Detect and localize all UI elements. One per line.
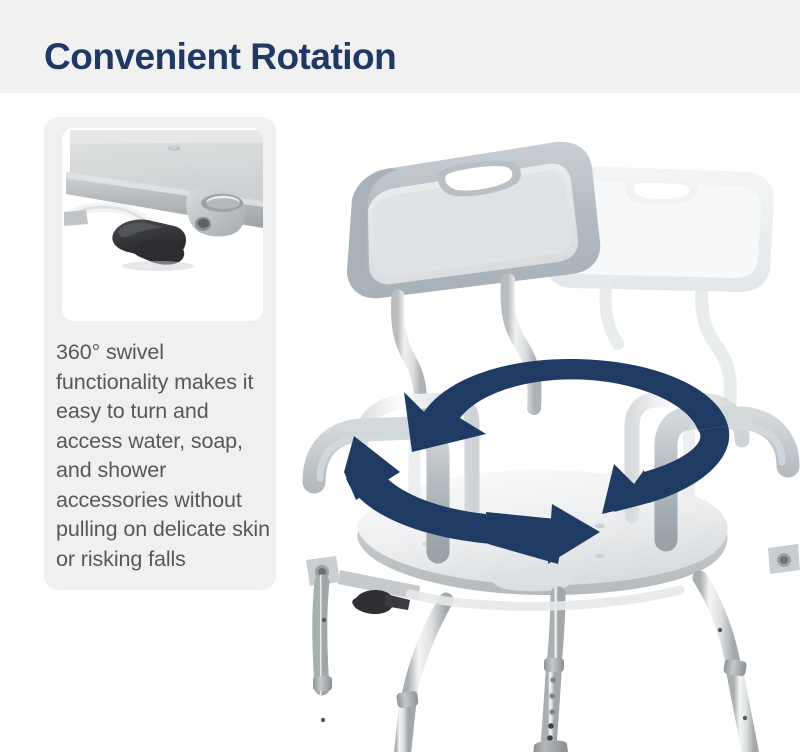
back-post-right [508,280,535,408]
product-image [300,120,800,752]
feature-description: 360° swivel functionality makes it easy … [56,338,272,574]
detail-photo-panel [62,128,263,321]
leg-back-left [377,600,446,752]
backrest [347,142,600,299]
leg-front-left [306,582,340,752]
swivel-lock-lever-illustration [62,128,263,321]
swivel-shower-chair-illustration [300,120,800,752]
leg-front-right [531,594,570,752]
feature-panel: Convenient Rotation [0,0,800,752]
page-title: Convenient Rotation [44,36,396,79]
leg-back-right [700,578,774,752]
swivel-lock-lever-closeup-image [62,128,263,321]
